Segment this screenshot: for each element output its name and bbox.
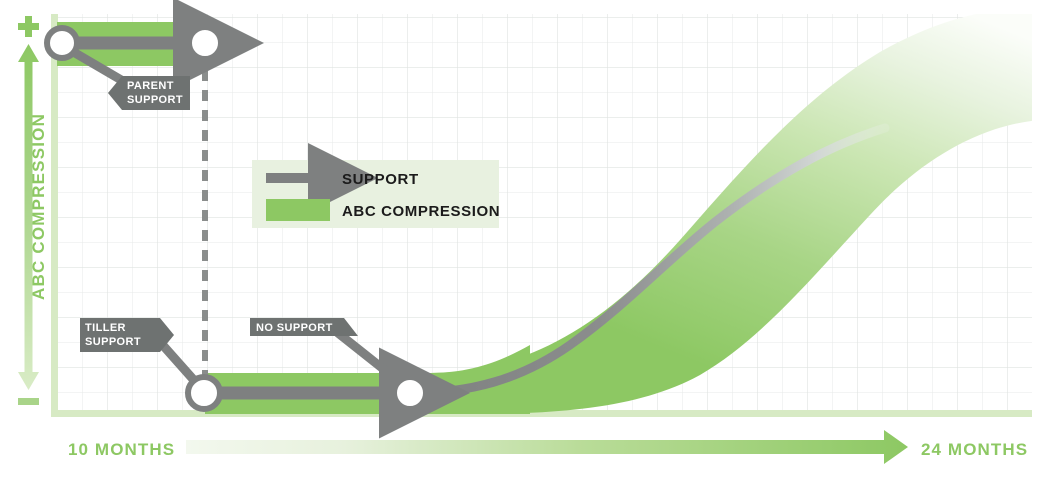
callout-no-support-label: NO SUPPORT xyxy=(256,322,333,334)
x-axis-arrow xyxy=(186,430,908,464)
legend-item-abc-compression[interactable]: ABC COMPRESSION xyxy=(266,199,500,221)
legend-support-label: SUPPORT xyxy=(342,171,419,188)
callout-parent-support: PARENT SUPPORT xyxy=(108,76,190,110)
callout-tiller-support-line2: SUPPORT xyxy=(85,336,141,348)
legend: SUPPORT ABC COMPRESSION xyxy=(252,160,500,228)
node-no-support[interactable] xyxy=(394,377,426,409)
callout-no-support: NO SUPPORT xyxy=(250,318,358,336)
callout-tiller-support: TILLER SUPPORT xyxy=(80,318,174,352)
abc-compression-chart: PARENT SUPPORT TILLER SUPPORT NO SUPPORT… xyxy=(0,0,1057,485)
legend-band-swatch-icon xyxy=(266,199,330,221)
x-axis-start-label: 10 MONTHS xyxy=(68,440,175,459)
legend-compression-label: ABC COMPRESSION xyxy=(342,203,500,220)
chart-root: PARENT SUPPORT TILLER SUPPORT NO SUPPORT… xyxy=(0,0,1057,485)
node-parent-support[interactable] xyxy=(189,27,221,59)
callout-parent-support-line2: SUPPORT xyxy=(127,94,183,106)
minus-icon xyxy=(18,398,39,405)
node-start-upper[interactable] xyxy=(47,28,77,58)
node-tiller-support[interactable] xyxy=(188,377,220,409)
x-axis-end-label: 24 MONTHS xyxy=(921,440,1028,459)
callout-parent-support-line1: PARENT xyxy=(127,80,174,92)
callout-tiller-support-line1: TILLER xyxy=(85,322,126,334)
plot-left-rail xyxy=(51,14,58,417)
plus-icon xyxy=(18,16,39,37)
y-axis-title: ABC COMPRESSION xyxy=(29,113,48,300)
y-axis: ABC COMPRESSION xyxy=(18,16,48,405)
x-axis: 10 MONTHS 24 MONTHS xyxy=(68,430,1028,464)
